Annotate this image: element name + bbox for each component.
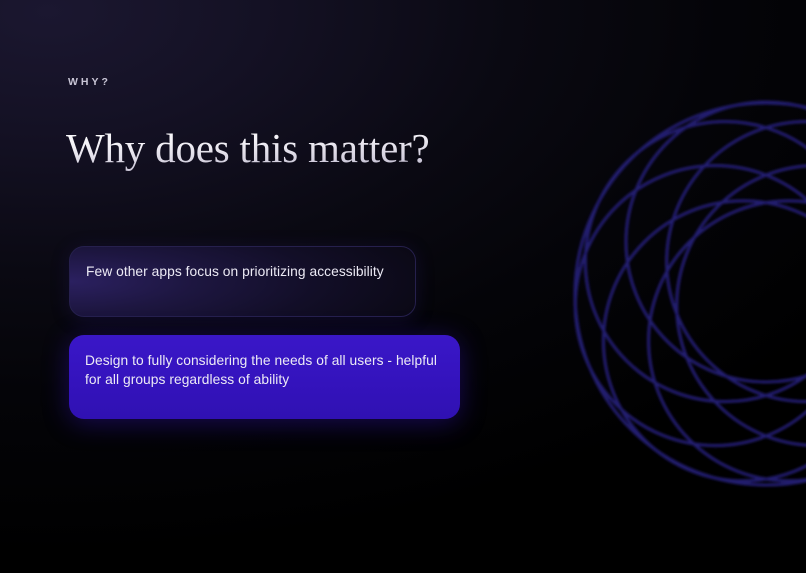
spirograph-ring (626, 102, 806, 382)
spirograph-ring (649, 201, 806, 481)
slide-root: WHY? Why does this matter? Few other app… (0, 0, 806, 573)
spirograph-ring (667, 122, 806, 402)
page-title: Why does this matter? (66, 126, 430, 171)
text-column: WHY? Why does this matter? Few other app… (68, 0, 498, 573)
spirograph-ring-group (575, 102, 806, 485)
insight-card-dark: Few other apps focus on prioritizing acc… (69, 246, 416, 317)
insight-card-accent-text: Design to fully considering the needs of… (85, 351, 442, 390)
section-eyebrow: WHY? (68, 77, 111, 88)
spirograph-outer-ring (575, 103, 806, 485)
spirograph-ring (575, 166, 806, 446)
spirograph-ring (603, 201, 806, 481)
insight-card-dark-text: Few other apps focus on prioritizing acc… (86, 262, 398, 281)
spirograph-ring (585, 122, 806, 402)
spirograph-ring (677, 166, 806, 446)
insight-card-accent: Design to fully considering the needs of… (69, 335, 460, 419)
